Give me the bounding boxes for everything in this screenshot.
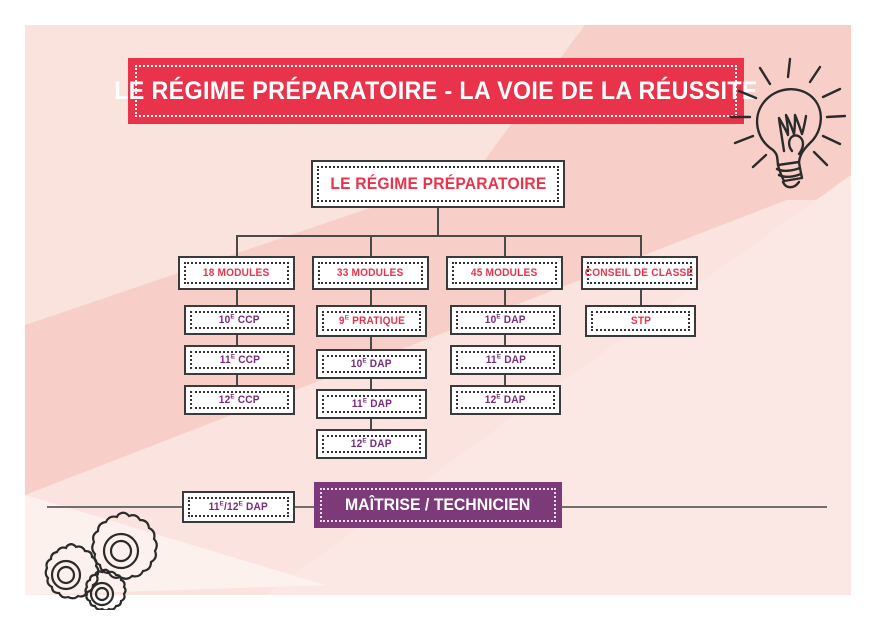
node-root-inner-border: LE RÉGIME PRÉPARATOIRE bbox=[317, 166, 559, 202]
node-18-modules[interactable]: 18 MODULES bbox=[178, 256, 295, 290]
node-33-modules[interactable]: 33 MODULES bbox=[312, 256, 429, 290]
node-33-modules-inner: 33 MODULES bbox=[318, 262, 423, 284]
node-c2-12e-dap-label: 12E DAP bbox=[351, 438, 392, 450]
node-c2-11e-dap[interactable]: 11E DAP bbox=[316, 389, 427, 419]
node-33-modules-label: 33 MODULES bbox=[337, 267, 404, 279]
outcome-bar-label: MAÎTRISE / TECHNICIEN bbox=[345, 495, 530, 515]
node-c3-11e-dap[interactable]: 11E DAP bbox=[450, 345, 561, 375]
node-c3-12e-dap[interactable]: 12E DAP bbox=[450, 385, 561, 415]
connector-drop-col2 bbox=[370, 235, 372, 257]
connector-c1-1 bbox=[236, 290, 238, 306]
node-12e-ccp-label: 12E CCP bbox=[219, 394, 260, 406]
connector-drop-col4 bbox=[640, 235, 642, 257]
connector-c2-1 bbox=[370, 290, 372, 306]
connector-root-stem bbox=[437, 208, 439, 236]
connector-drop-col3 bbox=[504, 235, 506, 257]
node-9e-pratique-inner: 9E PRATIQUE bbox=[322, 311, 421, 331]
node-45-modules[interactable]: 45 MODULES bbox=[446, 256, 563, 290]
node-c2-12e-dap[interactable]: 12E DAP bbox=[316, 429, 427, 459]
node-c2-11e-dap-label: 11E DAP bbox=[351, 398, 391, 410]
node-11e-ccp-label: 11E CCP bbox=[219, 354, 259, 366]
node-stp-label: STP bbox=[630, 315, 650, 327]
title-banner-inner-border: LE RÉGIME PRÉPARATOIRE - LA VOIE DE LA R… bbox=[135, 65, 737, 117]
node-c3-10e-dap[interactable]: 10E DAP bbox=[450, 305, 561, 335]
poster-root: LE RÉGIME PRÉPARATOIRE - LA VOIE DE LA R… bbox=[0, 0, 876, 620]
node-c3-11e-dap-label: 11E DAP bbox=[485, 354, 525, 366]
node-c2-10e-dap[interactable]: 10E DAP bbox=[316, 349, 427, 379]
node-c2-10e-dap-inner: 10E DAP bbox=[322, 355, 421, 373]
node-root[interactable]: LE RÉGIME PRÉPARATOIRE bbox=[311, 160, 565, 208]
node-11e-12e-dap-inner: 11E/12E DAP bbox=[188, 497, 289, 517]
gears-icon bbox=[33, 505, 173, 610]
node-stp-inner: STP bbox=[591, 311, 690, 331]
node-c2-11e-dap-inner: 11E DAP bbox=[322, 395, 421, 413]
node-10e-ccp[interactable]: 10E CCP bbox=[184, 305, 295, 335]
node-root-label: LE RÉGIME PRÉPARATOIRE bbox=[330, 174, 546, 194]
node-11e-ccp-inner: 11E CCP bbox=[190, 351, 289, 369]
node-c3-12e-dap-inner: 12E DAP bbox=[456, 391, 555, 409]
node-11e-12e-dap-label: 11E/12E DAP bbox=[209, 501, 268, 513]
node-c3-10e-dap-label: 10E DAP bbox=[485, 314, 526, 326]
node-11e-12e-dap[interactable]: 11E/12E DAP bbox=[182, 491, 295, 523]
node-10e-ccp-label: 10E CCP bbox=[219, 314, 260, 326]
connector-c3-1 bbox=[504, 290, 506, 306]
node-stp[interactable]: STP bbox=[585, 305, 696, 337]
lightbulb-icon bbox=[726, 55, 846, 215]
node-18-modules-inner: 18 MODULES bbox=[184, 262, 289, 284]
node-conseil-de-classe-label: CONSEIL DE CLASSE bbox=[585, 267, 694, 279]
connector-c4-1 bbox=[640, 290, 642, 306]
node-12e-ccp-inner: 12E CCP bbox=[190, 391, 289, 409]
node-c3-12e-dap-label: 12E DAP bbox=[485, 394, 526, 406]
node-10e-ccp-inner: 10E CCP bbox=[190, 311, 289, 329]
node-45-modules-inner: 45 MODULES bbox=[452, 262, 557, 284]
outcome-bar-maitrise-technicien[interactable]: MAÎTRISE / TECHNICIEN bbox=[314, 482, 562, 528]
node-conseil-de-classe-inner: CONSEIL DE CLASSE bbox=[587, 262, 692, 284]
title-banner: LE RÉGIME PRÉPARATOIRE - LA VOIE DE LA R… bbox=[128, 58, 744, 124]
node-9e-pratique-label: 9E PRATIQUE bbox=[338, 315, 404, 327]
connector-bus bbox=[236, 235, 642, 237]
node-c3-10e-dap-inner: 10E DAP bbox=[456, 311, 555, 329]
node-45-modules-label: 45 MODULES bbox=[471, 267, 538, 279]
node-c2-12e-dap-inner: 12E DAP bbox=[322, 435, 421, 453]
node-9e-pratique[interactable]: 9E PRATIQUE bbox=[316, 305, 427, 337]
node-c2-10e-dap-label: 10E DAP bbox=[351, 358, 392, 370]
outcome-bar-inner-border: MAÎTRISE / TECHNICIEN bbox=[320, 488, 556, 522]
node-11e-ccp[interactable]: 11E CCP bbox=[184, 345, 295, 375]
node-18-modules-label: 18 MODULES bbox=[203, 267, 270, 279]
node-c3-11e-dap-inner: 11E DAP bbox=[456, 351, 555, 369]
node-12e-ccp[interactable]: 12E CCP bbox=[184, 385, 295, 415]
node-conseil-de-classe[interactable]: CONSEIL DE CLASSE bbox=[581, 256, 698, 290]
page-title: LE RÉGIME PRÉPARATOIRE - LA VOIE DE LA R… bbox=[114, 77, 758, 106]
connector-drop-col1 bbox=[236, 235, 238, 257]
